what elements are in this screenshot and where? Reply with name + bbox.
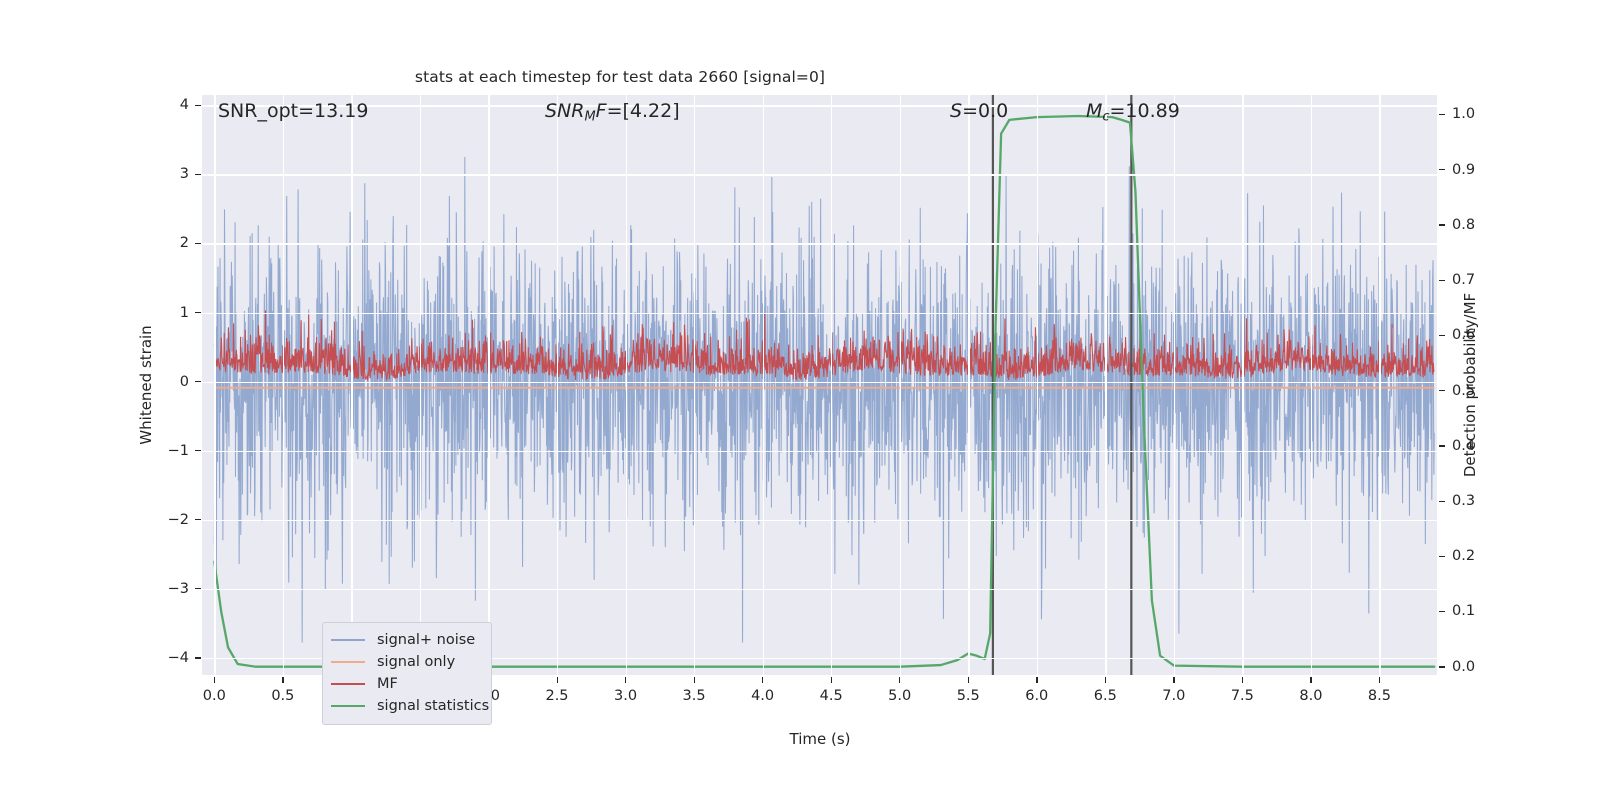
- y-tick-label-left: −2: [168, 512, 189, 528]
- gridline-horizontal: [202, 243, 1437, 244]
- y-tick-mark-right: [1439, 224, 1445, 225]
- y-tick-mark-right: [1439, 611, 1445, 612]
- y-axis-label-right: Detection probability/MF: [1461, 293, 1479, 477]
- gridline-vertical: [351, 95, 352, 675]
- x-tick-label: 3.0: [614, 688, 637, 704]
- gridline-horizontal: [202, 313, 1437, 314]
- x-tick-label: 8.5: [1368, 688, 1391, 704]
- legend-label: MF: [377, 676, 398, 692]
- legend-swatch-2: [331, 683, 365, 685]
- x-tick-mark: [1036, 677, 1037, 683]
- gridline-vertical: [420, 95, 421, 675]
- gridline-vertical: [1311, 95, 1312, 675]
- x-tick-label: 0.5: [271, 688, 294, 704]
- gridline-vertical: [557, 95, 558, 675]
- annotation-snr-opt: SNR_opt=13.19: [218, 100, 368, 122]
- y-tick-mark-left: [195, 588, 201, 589]
- gridline-vertical: [1242, 95, 1243, 675]
- y-tick-label-right: 0.7: [1452, 272, 1475, 288]
- signal-noise-path: [214, 157, 1434, 643]
- y-tick-mark-right: [1439, 556, 1445, 557]
- x-tick-label: 0.0: [203, 688, 226, 704]
- x-tick-label: 4.0: [751, 688, 774, 704]
- legend-label: signal+ noise: [377, 632, 475, 648]
- x-tick-mark: [762, 677, 763, 683]
- gridline-horizontal: [202, 382, 1437, 383]
- annotation-snr-mf: SNRMF=[4.22]: [545, 100, 680, 125]
- y-tick-mark-right: [1439, 169, 1445, 170]
- x-tick-label: 7.5: [1231, 688, 1254, 704]
- gridline-vertical: [968, 95, 969, 675]
- y-tick-mark-right: [1439, 501, 1445, 502]
- x-tick-mark: [831, 677, 832, 683]
- x-tick-label: 2.5: [545, 688, 568, 704]
- gridline-vertical: [831, 95, 832, 675]
- gridline-vertical: [1174, 95, 1175, 675]
- x-tick-mark: [1310, 677, 1311, 683]
- x-tick-mark: [1173, 677, 1174, 683]
- x-tick-mark: [968, 677, 969, 683]
- x-tick-mark: [214, 677, 215, 683]
- y-tick-label-left: −1: [168, 443, 189, 459]
- y-tick-mark-left: [195, 657, 201, 658]
- y-tick-mark-right: [1439, 114, 1445, 115]
- y-tick-label-left: −4: [168, 650, 189, 666]
- gridline-vertical: [488, 95, 489, 675]
- y-tick-label-right: 0.2: [1452, 548, 1475, 564]
- legend-label: signal statistics: [377, 698, 489, 714]
- gridline-vertical: [1037, 95, 1038, 675]
- legend-item[interactable]: signal+ noise: [331, 629, 483, 651]
- gridline-vertical: [763, 95, 764, 675]
- y-tick-mark-left: [195, 381, 201, 382]
- gridline-vertical: [214, 95, 215, 675]
- y-tick-label-left: 4: [180, 97, 189, 113]
- y-tick-label-left: 3: [180, 166, 189, 182]
- x-tick-mark: [625, 677, 626, 683]
- figure-title: stats at each timestep for test data 266…: [0, 68, 1600, 86]
- y-tick-mark-right: [1439, 280, 1445, 281]
- y-tick-label-right: 0.0: [1452, 659, 1475, 675]
- gridline-horizontal: [202, 520, 1437, 521]
- y-tick-mark-left: [195, 450, 201, 451]
- x-tick-label: 8.0: [1299, 688, 1322, 704]
- gridline-vertical: [1379, 95, 1380, 675]
- x-tick-mark: [1379, 677, 1380, 683]
- annotation-s-value: S=0.0: [950, 100, 1008, 122]
- gridline-horizontal: [202, 105, 1437, 106]
- x-tick-mark: [1242, 677, 1243, 683]
- gridline-horizontal: [202, 451, 1437, 452]
- annotation-mc-value: Mc=10.89: [1086, 100, 1180, 125]
- legend-swatch-0: [331, 639, 365, 641]
- x-axis-label: Time (s): [790, 730, 851, 748]
- gridline-vertical: [283, 95, 284, 675]
- gridline-vertical: [900, 95, 901, 675]
- legend-item[interactable]: signal only: [331, 651, 483, 673]
- gridline-horizontal: [202, 174, 1437, 175]
- y-tick-label-right: 0.8: [1452, 217, 1475, 233]
- x-tick-label: 5.0: [888, 688, 911, 704]
- legend-box: signal+ noisesignal onlyMFsignal statist…: [322, 622, 492, 725]
- y-tick-label-right: 1.0: [1452, 106, 1475, 122]
- gridline-vertical: [694, 95, 695, 675]
- y-tick-label-left: −3: [168, 581, 189, 597]
- x-tick-label: 6.0: [1025, 688, 1048, 704]
- y-tick-mark-left: [195, 105, 201, 106]
- y-axis-label-left: Whitened strain: [137, 325, 155, 444]
- plot-area: [202, 95, 1437, 675]
- x-tick-mark: [899, 677, 900, 683]
- gridline-vertical: [1105, 95, 1106, 675]
- y-tick-label-left: 1: [180, 305, 189, 321]
- x-tick-label: 4.5: [820, 688, 843, 704]
- legend-swatch-1: [331, 661, 365, 663]
- y-tick-mark-right: [1439, 445, 1445, 446]
- x-tick-mark: [282, 677, 283, 683]
- legend-swatch-3: [331, 705, 365, 707]
- y-tick-mark-left: [195, 519, 201, 520]
- trace-signal-noise: [214, 157, 1434, 643]
- legend-label: signal only: [377, 654, 455, 670]
- gridline-vertical: [626, 95, 627, 675]
- y-tick-label-right: 0.9: [1452, 162, 1475, 178]
- y-tick-mark-left: [195, 243, 201, 244]
- y-tick-mark-right: [1439, 335, 1445, 336]
- x-tick-label: 7.0: [1162, 688, 1185, 704]
- y-tick-mark-right: [1439, 390, 1445, 391]
- figure-canvas: stats at each timestep for test data 266…: [0, 0, 1600, 800]
- y-tick-label-right: 0.3: [1452, 493, 1475, 509]
- gridline-horizontal: [202, 589, 1437, 590]
- y-tick-label-left: 0: [180, 374, 189, 390]
- y-tick-label-left: 2: [180, 235, 189, 251]
- y-tick-mark-right: [1439, 666, 1445, 667]
- y-tick-mark-left: [195, 312, 201, 313]
- x-tick-mark: [557, 677, 558, 683]
- y-tick-label-right: 0.1: [1452, 603, 1475, 619]
- x-tick-mark: [1105, 677, 1106, 683]
- x-tick-label: 5.5: [957, 688, 980, 704]
- figure-title-text: stats at each timestep for test data 266…: [415, 68, 825, 86]
- x-tick-mark: [694, 677, 695, 683]
- x-tick-label: 3.5: [683, 688, 706, 704]
- legend-item[interactable]: MF: [331, 673, 483, 695]
- x-tick-label: 6.5: [1094, 688, 1117, 704]
- legend-item[interactable]: signal statistics: [331, 695, 483, 717]
- y-tick-mark-left: [195, 174, 201, 175]
